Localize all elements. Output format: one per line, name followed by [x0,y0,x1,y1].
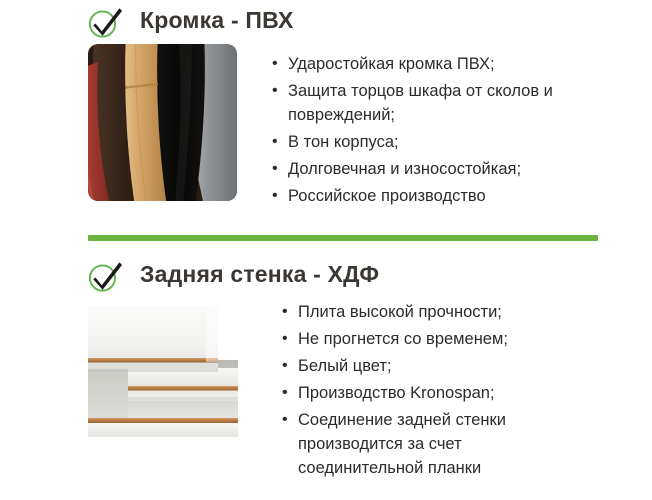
section-back-panel: Задняя стенка - ХДФ [0,240,652,468]
product-features-page: Кромка - ПВХ [0,0,652,500]
list-item: Плита высокой прочности; [280,300,570,324]
section-title: Кромка - ПВХ [140,0,294,40]
pvc-edge-banding-rolls-image [88,44,237,201]
section-content-back-panel: Плита высокой прочности; Не прогнется со… [88,298,652,468]
section-heading-edge-banding: Кромка - ПВХ [86,0,652,44]
list-item: Ударостойкая кромка ПВХ; [270,52,570,76]
section-edge-banding: Кромка - ПВХ [0,0,652,214]
list-item: Соединение задней стенки производится за… [280,408,570,480]
list-item: Не прогнется со временем; [280,327,570,351]
section-heading-back-panel: Задняя стенка - ХДФ [86,254,652,298]
list-item: Защита торцов шкафа от сколов и поврежде… [270,79,570,127]
check-circle-icon [86,258,124,294]
list-item: Производство Kronospan; [280,381,570,405]
feature-list-back-panel: Плита высокой прочности; Не прогнется со… [280,300,570,483]
list-item: Российское производство [270,184,570,208]
hdf-white-boards-image [88,298,248,448]
section-title: Задняя стенка - ХДФ [140,254,379,294]
list-item: Долговечная и износостойкая; [270,157,570,181]
feature-list-edge-banding: Ударостойкая кромка ПВХ; Защита торцов ш… [270,52,570,211]
section-content-edge-banding: Ударостойкая кромка ПВХ; Защита торцов ш… [88,44,652,214]
list-item: Белый цвет; [280,354,570,378]
list-item: В тон корпуса; [270,130,570,154]
check-circle-icon [86,4,124,40]
